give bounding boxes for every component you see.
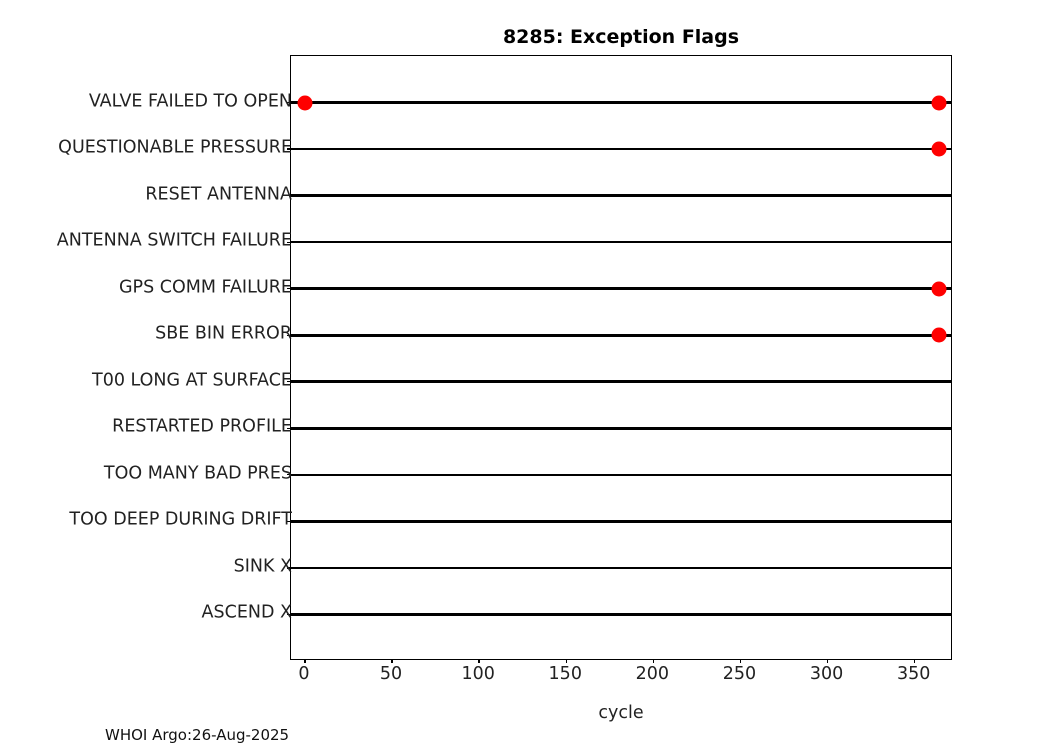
y-axis-label-questionable-pressure: QUESTIONABLE PRESSURE	[58, 139, 292, 157]
flag-row-line	[291, 520, 951, 523]
page-title: 8285: Exception Flags	[290, 26, 952, 48]
x-axis-tick-label: 250	[723, 666, 756, 684]
y-axis-label-ascend-x: ASCEND X	[202, 605, 292, 623]
flag-row-line	[291, 334, 951, 337]
x-axis-tick-label: 350	[897, 666, 930, 684]
x-axis-tick-label: 100	[461, 666, 494, 684]
y-axis-label-reset-antenna: RESET ANTENNA	[145, 186, 292, 204]
y-axis-label-too-deep-during-drift: TOO DEEP DURING DRIFT	[69, 512, 292, 530]
x-axis-tick	[740, 659, 741, 663]
flag-row-line	[291, 427, 951, 430]
data-point-marker[interactable]	[932, 142, 947, 157]
x-axis-tick	[914, 659, 915, 663]
x-axis-tick-label: 300	[810, 666, 843, 684]
flag-row-line	[291, 148, 951, 151]
x-axis-tick	[827, 659, 828, 663]
plot-area	[290, 55, 952, 660]
flag-row-line	[291, 474, 951, 477]
y-axis-label-sbe-bin-error: SBE BIN ERROR	[155, 325, 292, 343]
x-axis-tick	[653, 659, 654, 663]
flag-row-line	[291, 567, 951, 570]
y-axis-label-restarted-profile: RESTARTED PROFILE	[112, 419, 292, 437]
exception-flags-figure: 8285: Exception Flags cycle WHOI Argo:26…	[0, 0, 1050, 750]
x-axis-tick-label: 0	[298, 666, 309, 684]
x-axis-tick	[304, 659, 305, 663]
data-point-marker[interactable]	[932, 95, 947, 110]
y-axis-label-too-many-bad-pres: TOO MANY BAD PRES	[104, 465, 292, 483]
flag-row-line	[291, 241, 951, 244]
x-axis-title: cycle	[290, 703, 952, 723]
x-axis-tick	[478, 659, 479, 663]
x-axis-tick	[391, 659, 392, 663]
flag-row-line	[291, 380, 951, 383]
y-axis-label-valve-failed-to-open: VALVE FAILED TO OPEN	[89, 93, 292, 111]
y-axis-label-t00-long-at-surface: T00 LONG AT SURFACE	[92, 372, 292, 390]
flag-row-line	[291, 101, 951, 104]
flag-row-line	[291, 287, 951, 290]
data-point-marker[interactable]	[297, 95, 312, 110]
y-axis-label-sink-x: SINK X	[234, 558, 292, 576]
data-point-marker[interactable]	[932, 328, 947, 343]
y-axis-label-antenna-switch-failure: ANTENNA SWITCH FAILURE	[57, 232, 292, 250]
footer-credit: WHOI Argo:26-Aug-2025	[105, 726, 289, 744]
flag-row-line	[291, 613, 951, 616]
x-axis-tick-label: 150	[549, 666, 582, 684]
x-axis-tick-label: 200	[636, 666, 669, 684]
x-axis-tick-label: 50	[380, 666, 402, 684]
x-axis-tick	[566, 659, 567, 663]
flag-row-line	[291, 194, 951, 197]
data-point-marker[interactable]	[932, 281, 947, 296]
y-axis-label-gps-comm-failure: GPS COMM FAILURE	[119, 279, 292, 297]
